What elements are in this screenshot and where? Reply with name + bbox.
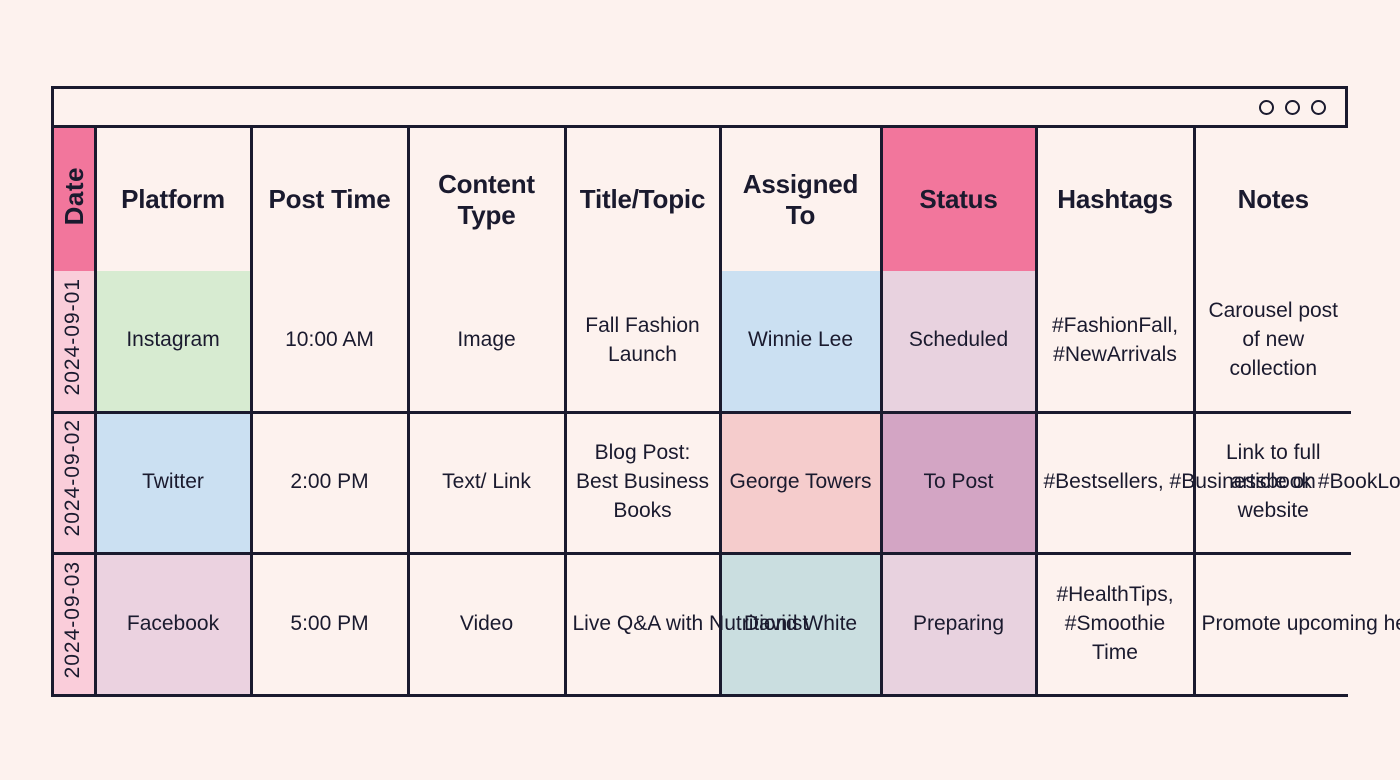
cell-hashtags[interactable]: #Bestsellers, #Businessbook #BookLovers [1036,412,1194,553]
column-header-content-type[interactable]: Content Type [408,128,565,271]
cell-platform[interactable]: Instagram [95,271,251,412]
column-header-date[interactable]: Date [54,128,95,271]
column-header-assigned-to[interactable]: Assigned To [720,128,881,271]
cell-post-time[interactable]: 2:00 PM [251,412,408,553]
table-row: 2024-09-01 Instagram 10:00 AM Image Fall… [54,271,1351,412]
cell-title-topic[interactable]: Live Q&A with Nutritionist [565,553,720,694]
cell-assigned-to[interactable]: David White [720,553,881,694]
cell-assigned-to[interactable]: Winnie Lee [720,271,881,412]
column-header-title-topic[interactable]: Title/Topic [565,128,720,271]
cell-title-topic[interactable]: Blog Post: Best Business Books [565,412,720,553]
table-body: 2024-09-01 Instagram 10:00 AM Image Fall… [54,271,1351,694]
cell-hashtags[interactable]: #FashionFall, #NewArrivals [1036,271,1194,412]
column-header-hashtags[interactable]: Hashtags [1036,128,1194,271]
table-row: 2024-09-02 Twitter 2:00 PM Text/ Link Bl… [54,412,1351,553]
window-controls [1259,100,1326,115]
cell-date-label: 2024-09-03 [59,561,88,678]
window-dot-3-icon[interactable] [1311,100,1326,115]
table-window: Date Platform Post Time Content Type Tit… [51,86,1348,697]
table-header: Date Platform Post Time Content Type Tit… [54,128,1351,271]
cell-status[interactable]: To Post [881,412,1036,553]
cell-hashtags[interactable]: #HealthTips, #Smoothie Time [1036,553,1194,694]
cell-platform[interactable]: Twitter [95,412,251,553]
cell-post-time[interactable]: 5:00 PM [251,553,408,694]
cell-date-label: 2024-09-02 [59,419,88,536]
cell-assigned-to[interactable]: George Towers [720,412,881,553]
cell-content-type[interactable]: Image [408,271,565,412]
cell-content-type[interactable]: Text/ Link [408,412,565,553]
cell-status[interactable]: Preparing [881,553,1036,694]
cell-date[interactable]: 2024-09-01 [54,271,95,412]
content-calendar-table: Date Platform Post Time Content Type Tit… [54,128,1351,694]
cell-date[interactable]: 2024-09-03 [54,553,95,694]
column-header-status[interactable]: Status [881,128,1036,271]
cell-date[interactable]: 2024-09-02 [54,412,95,553]
column-header-post-time[interactable]: Post Time [251,128,408,271]
page-root: Date Platform Post Time Content Type Tit… [0,0,1400,780]
column-header-date-label: Date [59,167,89,225]
window-dot-1-icon[interactable] [1259,100,1274,115]
column-header-notes[interactable]: Notes [1194,128,1351,271]
column-header-platform[interactable]: Platform [95,128,251,271]
window-titlebar [54,89,1345,128]
cell-notes[interactable]: Promote upcoming health webinar [1194,553,1351,694]
cell-post-time[interactable]: 10:00 AM [251,271,408,412]
cell-title-topic[interactable]: Fall Fashion Launch [565,271,720,412]
cell-content-type[interactable]: Video [408,553,565,694]
cell-status[interactable]: Scheduled [881,271,1036,412]
cell-date-label: 2024-09-01 [59,278,88,395]
cell-platform[interactable]: Facebook [95,553,251,694]
table-row: 2024-09-03 Facebook 5:00 PM Video Live Q… [54,553,1351,694]
header-row: Date Platform Post Time Content Type Tit… [54,128,1351,271]
cell-notes[interactable]: Carousel post of new collection [1194,271,1351,412]
window-dot-2-icon[interactable] [1285,100,1300,115]
